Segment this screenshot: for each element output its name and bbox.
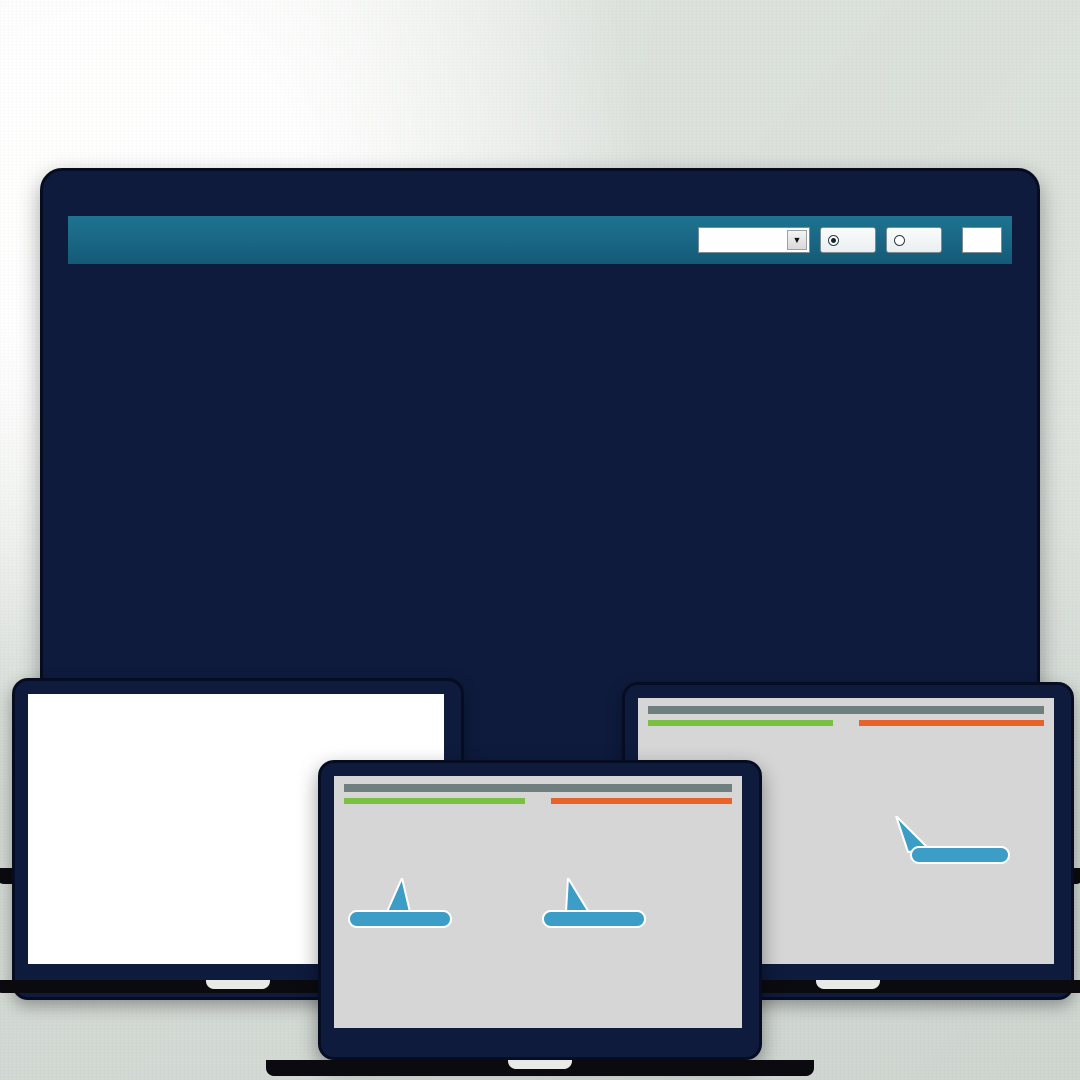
front-rag-upper-col <box>344 798 525 804</box>
ytd-radio-dot <box>894 235 905 246</box>
front-laptop <box>318 760 762 1060</box>
chevron-down-icon[interactable]: ▼ <box>787 230 807 250</box>
vs-dropdown[interactable] <box>962 227 1002 253</box>
front-rag-columns <box>344 798 732 804</box>
right-callout-bubble <box>910 846 1010 864</box>
dashboard-controls: ▼ <box>688 227 1004 253</box>
left-laptop-notch <box>206 980 270 989</box>
mtd-radio[interactable] <box>820 227 876 253</box>
front-rag-wrap <box>334 776 742 804</box>
front-rag-upper-header <box>344 798 525 804</box>
front-callout-bubble-left <box>348 910 452 928</box>
ytd-radio[interactable] <box>886 227 942 253</box>
front-rag-lower-col <box>551 798 732 804</box>
dashboard-header: ▼ <box>68 216 1012 264</box>
front-laptop-notch <box>508 1060 572 1069</box>
right-rag-upper-header <box>648 720 833 726</box>
front-laptop-base <box>266 1060 814 1076</box>
right-laptop-notch <box>816 980 880 989</box>
right-rag-columns <box>648 720 1044 726</box>
front-rag-lower-header <box>551 798 732 804</box>
front-rag-title <box>344 784 732 792</box>
page-title-wrap <box>0 38 1080 56</box>
right-rag-lower-col <box>859 720 1044 726</box>
right-rag-lower-header <box>859 720 1044 726</box>
right-rag-wrap <box>638 698 1054 726</box>
kpi2-label <box>28 694 444 699</box>
front-rag-screen <box>334 776 742 1028</box>
right-rag-title <box>648 706 1044 714</box>
select-month-dropdown[interactable]: ▼ <box>698 227 810 253</box>
right-rag-upper-col <box>648 720 833 726</box>
mtd-radio-dot <box>828 235 839 246</box>
front-callout-bubble-right <box>542 910 646 928</box>
